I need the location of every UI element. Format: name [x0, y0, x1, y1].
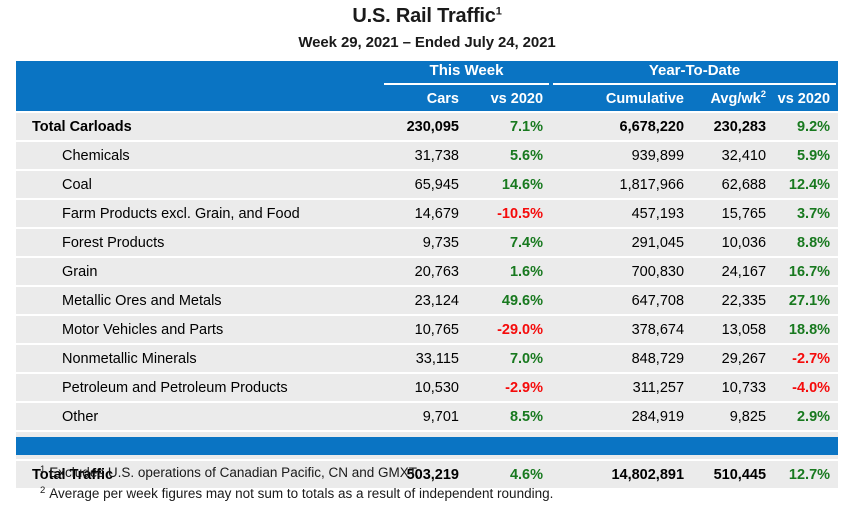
- cell-week-vs-2020-value: 5.6%: [510, 148, 543, 164]
- column-header-week-vs-2020[interactable]: vs 2020: [467, 86, 551, 112]
- row-label-value: Total Carloads: [32, 119, 132, 135]
- column-header-row: Cars vs 2020 Cumulative Avg/wk2 vs 2020: [16, 86, 838, 112]
- footnote: 2Average per week figures may not sum to…: [40, 483, 830, 504]
- cell-cars-value: 9,701: [423, 409, 459, 425]
- cell-cumulative: 284,919: [551, 402, 692, 431]
- cell-avg-wk-value: 15,765: [722, 206, 766, 222]
- cell-cars: 230,095: [382, 112, 467, 141]
- rail-traffic-report: U.S. Rail Traffic1 Week 29, 2021 – Ended…: [0, 0, 854, 516]
- cell-ytd-vs-2020: 9.2%: [774, 112, 838, 141]
- cell-avg-wk: 29,267: [692, 344, 774, 373]
- cell-cars: 31,738: [382, 141, 467, 170]
- table-row: Nonmetallic Minerals33,1157.0%848,72929,…: [16, 344, 838, 373]
- cell-week-vs-2020: 7.4%: [467, 228, 551, 257]
- row-label-value: Other: [62, 409, 98, 425]
- table-row: Farm Products excl. Grain, and Food14,67…: [16, 199, 838, 228]
- cell-ytd-vs-2020-value: 18.8%: [789, 322, 830, 338]
- column-header-cumulative-label: Cumulative: [606, 91, 684, 107]
- table-row: Motor Vehicles and Parts10,765-29.0%378,…: [16, 315, 838, 344]
- table-bottom-bar: [16, 437, 838, 455]
- cell-ytd-vs-2020: 3.7%: [774, 199, 838, 228]
- page-subtitle: Week 29, 2021 – Ended July 24, 2021: [0, 33, 854, 53]
- cell-ytd-vs-2020-value: -4.0%: [792, 380, 830, 396]
- column-header-avg-wk[interactable]: Avg/wk2: [692, 86, 774, 112]
- column-header-avg-wk-footnote-marker: 2: [761, 89, 766, 100]
- cell-ytd-vs-2020: 5.9%: [774, 141, 838, 170]
- cell-ytd-vs-2020-value: -2.7%: [792, 351, 830, 367]
- row-label-value: Forest Products: [62, 235, 164, 251]
- row-label: Chemicals: [16, 141, 382, 170]
- cell-cars: 10,530: [382, 373, 467, 402]
- cell-cumulative: 311,257: [551, 373, 692, 402]
- table-row: Total Carloads230,0957.1%6,678,220230,28…: [16, 112, 838, 141]
- cell-cumulative: 291,045: [551, 228, 692, 257]
- cell-cars: 20,763: [382, 257, 467, 286]
- group-header-this-week-label: This Week: [384, 62, 549, 85]
- cell-avg-wk-value: 13,058: [722, 322, 766, 338]
- row-label: Grain: [16, 257, 382, 286]
- cell-week-vs-2020: -10.5%: [467, 199, 551, 228]
- cell-ytd-vs-2020-value: 16.7%: [789, 264, 830, 280]
- rail-traffic-table-container: This Week Year-To-Date Cars vs 2020 Cumu…: [16, 61, 838, 490]
- column-header-label: [16, 86, 382, 112]
- row-label: Motor Vehicles and Parts: [16, 315, 382, 344]
- row-label: Coal: [16, 170, 382, 199]
- cell-ytd-vs-2020-value: 9.2%: [797, 119, 830, 135]
- cell-week-vs-2020: 1.6%: [467, 257, 551, 286]
- row-label: Nonmetallic Minerals: [16, 344, 382, 373]
- page-title: U.S. Rail Traffic1: [0, 0, 854, 28]
- cell-cars-value: 20,763: [415, 264, 459, 280]
- cell-cars-value: 10,765: [415, 322, 459, 338]
- cell-week-vs-2020-value: 49.6%: [502, 293, 543, 309]
- cell-cumulative: 647,708: [551, 286, 692, 315]
- cell-week-vs-2020-value: 8.5%: [510, 409, 543, 425]
- cell-avg-wk-value: 10,733: [722, 380, 766, 396]
- cell-ytd-vs-2020: 8.8%: [774, 228, 838, 257]
- page-title-text: U.S. Rail Traffic: [352, 5, 495, 27]
- cell-ytd-vs-2020-value: 5.9%: [797, 148, 830, 164]
- row-label-value: Motor Vehicles and Parts: [62, 322, 223, 338]
- footnote: 1Excludes U.S. operations of Canadian Pa…: [40, 462, 830, 483]
- cell-ytd-vs-2020: -4.0%: [774, 373, 838, 402]
- cell-avg-wk: 24,167: [692, 257, 774, 286]
- cell-cars: 33,115: [382, 344, 467, 373]
- cell-avg-wk: 15,765: [692, 199, 774, 228]
- group-header-this-week: This Week: [382, 61, 551, 86]
- column-header-cumulative[interactable]: Cumulative: [551, 86, 692, 112]
- cell-avg-wk-value: 9,825: [730, 409, 766, 425]
- cell-cumulative-value: 311,257: [633, 380, 684, 396]
- column-header-ytd-vs-2020[interactable]: vs 2020: [774, 86, 838, 112]
- cell-ytd-vs-2020: 12.4%: [774, 170, 838, 199]
- cell-week-vs-2020-value: 7.1%: [510, 119, 543, 135]
- cell-avg-wk: 10,036: [692, 228, 774, 257]
- cell-cars-value: 65,945: [415, 177, 459, 193]
- cell-cars-value: 14,679: [415, 206, 459, 222]
- cell-week-vs-2020-value: 7.0%: [510, 351, 543, 367]
- cell-cumulative-value: 700,830: [632, 264, 684, 280]
- cell-week-vs-2020-value: 1.6%: [510, 264, 543, 280]
- cell-week-vs-2020: 5.6%: [467, 141, 551, 170]
- cell-cumulative: 457,193: [551, 199, 692, 228]
- column-header-cars[interactable]: Cars: [382, 86, 467, 112]
- row-label: Other: [16, 402, 382, 431]
- cell-cumulative-value: 284,919: [632, 409, 684, 425]
- group-header-year-to-date-label: Year-To-Date: [553, 62, 836, 85]
- cell-cumulative-value: 848,729: [632, 351, 684, 367]
- row-label: Farm Products excl. Grain, and Food: [16, 199, 382, 228]
- row-label-value: Coal: [62, 177, 92, 193]
- table-row: Other9,7018.5%284,9199,8252.9%: [16, 402, 838, 431]
- cell-ytd-vs-2020-value: 3.7%: [797, 206, 830, 222]
- cell-cumulative-value: 939,899: [632, 148, 684, 164]
- cell-week-vs-2020-value: -10.5%: [497, 206, 543, 222]
- column-header-week-vs-2020-label: vs 2020: [491, 91, 543, 107]
- cell-avg-wk-value: 62,688: [722, 177, 766, 193]
- cell-cars: 9,701: [382, 402, 467, 431]
- footnote-marker: 2: [40, 485, 45, 496]
- cell-avg-wk-value: 29,267: [722, 351, 766, 367]
- column-header-ytd-vs-2020-label: vs 2020: [778, 91, 830, 107]
- cell-cars: 65,945: [382, 170, 467, 199]
- cell-week-vs-2020-value: 14.6%: [502, 177, 543, 193]
- cell-ytd-vs-2020-value: 12.4%: [789, 177, 830, 193]
- cell-cars-value: 9,735: [423, 235, 459, 251]
- column-header-avg-wk-label: Avg/wk: [710, 91, 760, 107]
- cell-ytd-vs-2020: 2.9%: [774, 402, 838, 431]
- cell-cars-value: 10,530: [415, 380, 459, 396]
- row-label-value: Nonmetallic Minerals: [62, 351, 197, 367]
- row-label: Petroleum and Petroleum Products: [16, 373, 382, 402]
- cell-cumulative-value: 291,045: [632, 235, 684, 251]
- row-label: Metallic Ores and Metals: [16, 286, 382, 315]
- cell-ytd-vs-2020: 16.7%: [774, 257, 838, 286]
- cell-week-vs-2020: 7.0%: [467, 344, 551, 373]
- cell-week-vs-2020: 14.6%: [467, 170, 551, 199]
- cell-cars-value: 31,738: [415, 148, 459, 164]
- cell-avg-wk: 32,410: [692, 141, 774, 170]
- cell-cumulative-value: 1,817,966: [620, 177, 685, 193]
- cell-ytd-vs-2020: 27.1%: [774, 286, 838, 315]
- cell-cumulative-value: 457,193: [632, 206, 684, 222]
- cell-week-vs-2020-value: -29.0%: [497, 322, 543, 338]
- cell-avg-wk-value: 22,335: [722, 293, 766, 309]
- cell-avg-wk: 62,688: [692, 170, 774, 199]
- cell-week-vs-2020-value: -2.9%: [505, 380, 543, 396]
- group-header-year-to-date: Year-To-Date: [551, 61, 838, 86]
- cell-avg-wk: 9,825: [692, 402, 774, 431]
- table-row: Metallic Ores and Metals23,12449.6%647,7…: [16, 286, 838, 315]
- row-label-value: Petroleum and Petroleum Products: [62, 380, 288, 396]
- footnotes: 1Excludes U.S. operations of Canadian Pa…: [40, 462, 830, 504]
- footnote-text: Excludes U.S. operations of Canadian Pac…: [49, 465, 419, 480]
- group-header-spacer: [16, 61, 382, 86]
- cell-cumulative: 1,817,966: [551, 170, 692, 199]
- cell-cumulative-value: 378,674: [632, 322, 684, 338]
- table-row: Chemicals31,7385.6%939,89932,4105.9%: [16, 141, 838, 170]
- table-row: Coal65,94514.6%1,817,96662,68812.4%: [16, 170, 838, 199]
- cell-avg-wk-value: 24,167: [722, 264, 766, 280]
- cell-avg-wk: 10,733: [692, 373, 774, 402]
- cell-avg-wk-value: 32,410: [722, 148, 766, 164]
- cell-ytd-vs-2020: -2.7%: [774, 344, 838, 373]
- cell-avg-wk-value: 10,036: [722, 235, 766, 251]
- row-label-value: Metallic Ores and Metals: [62, 293, 222, 309]
- table-body: Total Carloads230,0957.1%6,678,220230,28…: [16, 112, 838, 489]
- cell-week-vs-2020: -2.9%: [467, 373, 551, 402]
- cell-cumulative: 700,830: [551, 257, 692, 286]
- group-header-row: This Week Year-To-Date: [16, 61, 838, 86]
- cell-cumulative: 378,674: [551, 315, 692, 344]
- cell-week-vs-2020: 8.5%: [467, 402, 551, 431]
- cell-week-vs-2020: 7.1%: [467, 112, 551, 141]
- row-label: Total Carloads: [16, 112, 382, 141]
- cell-cars: 9,735: [382, 228, 467, 257]
- cell-avg-wk: 22,335: [692, 286, 774, 315]
- cell-avg-wk-value: 230,283: [714, 119, 766, 135]
- rail-traffic-table: This Week Year-To-Date Cars vs 2020 Cumu…: [16, 61, 838, 490]
- cell-cars-value: 23,124: [415, 293, 459, 309]
- row-label: Forest Products: [16, 228, 382, 257]
- cell-avg-wk: 13,058: [692, 315, 774, 344]
- table-header: This Week Year-To-Date Cars vs 2020 Cumu…: [16, 61, 838, 112]
- cell-cars-value: 230,095: [407, 119, 459, 135]
- cell-ytd-vs-2020-value: 27.1%: [789, 293, 830, 309]
- table-row: Forest Products9,7357.4%291,04510,0368.8…: [16, 228, 838, 257]
- cell-cars-value: 33,115: [416, 351, 459, 367]
- cell-cumulative-value: 6,678,220: [620, 119, 685, 135]
- row-label-value: Farm Products excl. Grain, and Food: [62, 206, 300, 222]
- table-row: Grain20,7631.6%700,83024,16716.7%: [16, 257, 838, 286]
- row-label-value: Grain: [62, 264, 97, 280]
- cell-cars: 23,124: [382, 286, 467, 315]
- cell-ytd-vs-2020: 18.8%: [774, 315, 838, 344]
- cell-week-vs-2020-value: 7.4%: [510, 235, 543, 251]
- cell-cumulative: 939,899: [551, 141, 692, 170]
- cell-week-vs-2020: 49.6%: [467, 286, 551, 315]
- cell-cumulative: 848,729: [551, 344, 692, 373]
- page-title-footnote-marker: 1: [496, 5, 502, 17]
- cell-cars: 14,679: [382, 199, 467, 228]
- cell-avg-wk: 230,283: [692, 112, 774, 141]
- footnote-text: Average per week figures may not sum to …: [49, 486, 553, 501]
- cell-cumulative: 6,678,220: [551, 112, 692, 141]
- cell-ytd-vs-2020-value: 8.8%: [797, 235, 830, 251]
- cell-cars: 10,765: [382, 315, 467, 344]
- column-header-cars-label: Cars: [427, 91, 459, 107]
- cell-cumulative-value: 647,708: [632, 293, 684, 309]
- row-label-value: Chemicals: [62, 148, 130, 164]
- cell-week-vs-2020: -29.0%: [467, 315, 551, 344]
- table-row: Petroleum and Petroleum Products10,530-2…: [16, 373, 838, 402]
- footnote-marker: 1: [40, 464, 45, 475]
- cell-ytd-vs-2020-value: 2.9%: [797, 409, 830, 425]
